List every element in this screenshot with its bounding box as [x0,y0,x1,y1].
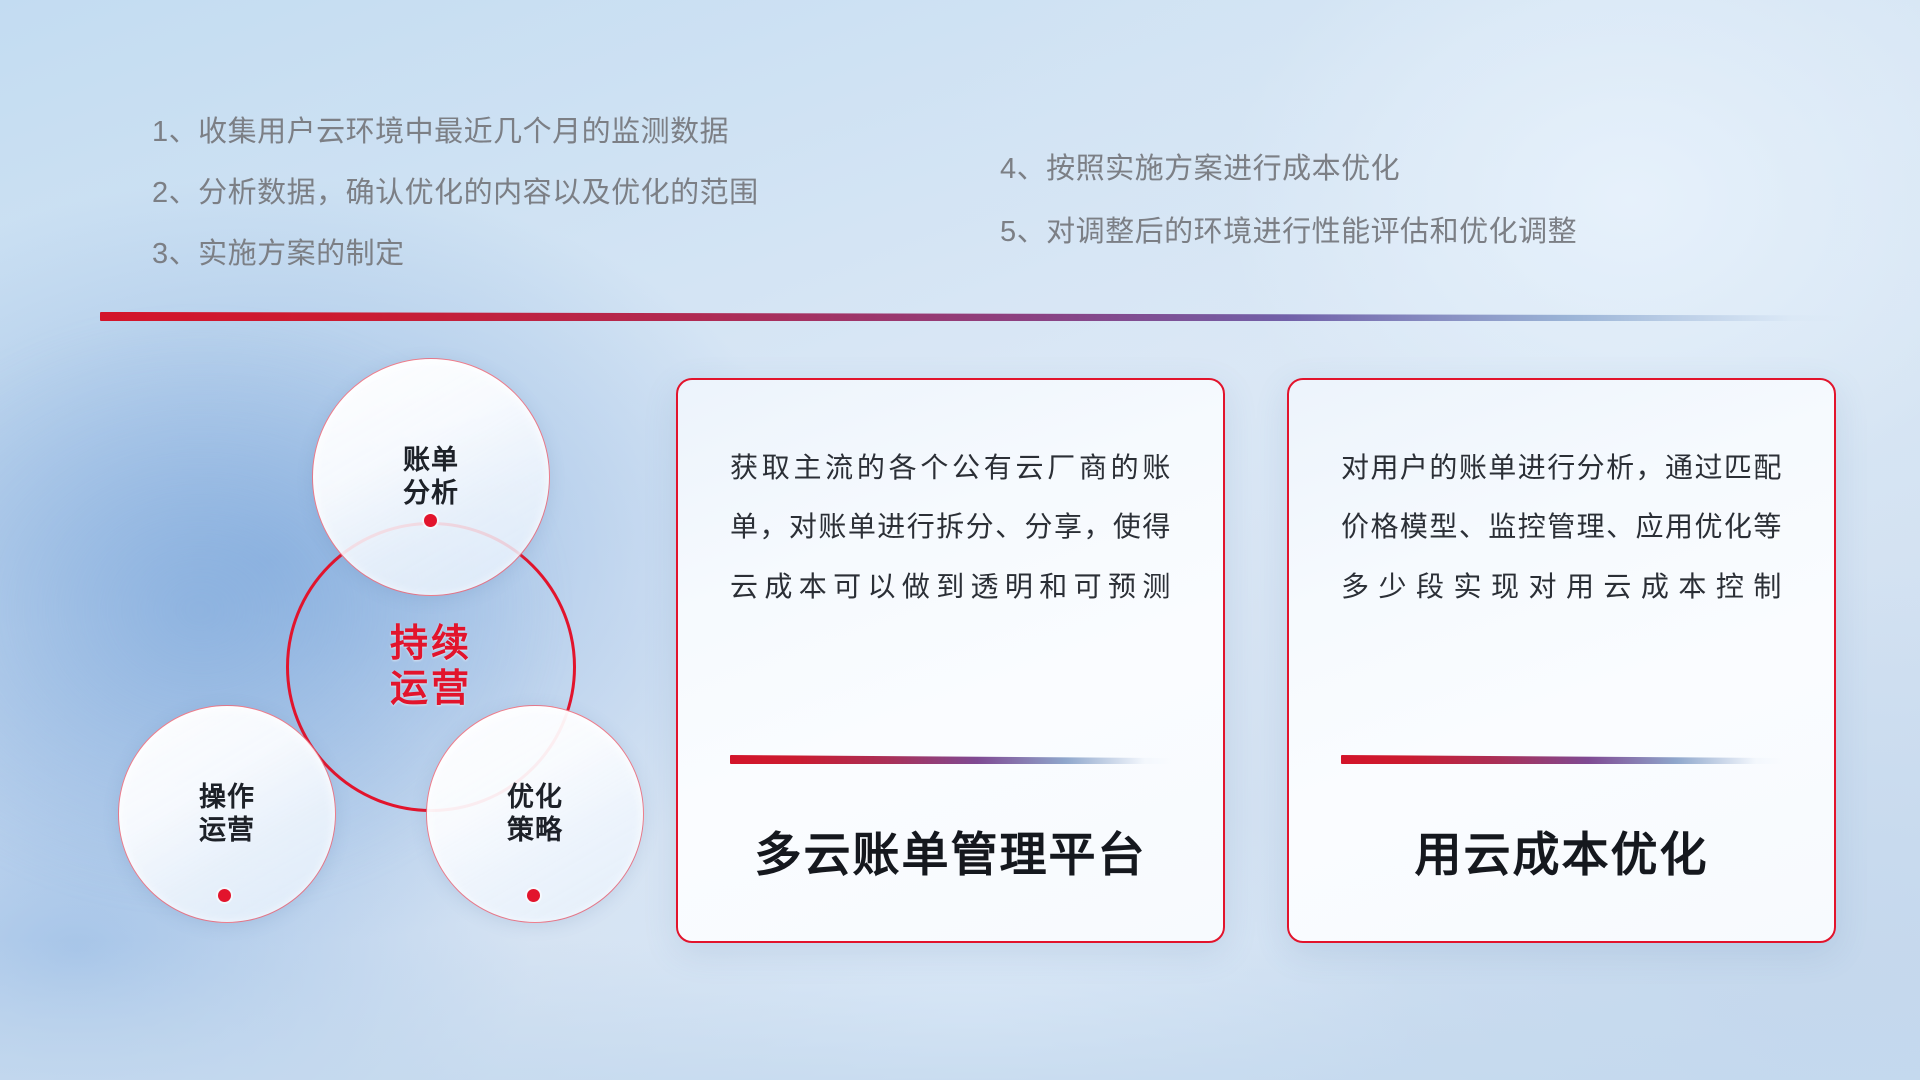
step-item-2: 2、分析数据，确认优化的内容以及优化的范围 [152,179,759,208]
background-bottom-strip [0,940,1920,1080]
process-steps-section: 1、收集用户云环境中最近几个月的监测数据 2、分析数据，确认优化的内容以及优化的… [0,0,1920,300]
venn-node-dot-top [424,514,437,527]
card-divider-bar [730,755,1171,764]
venn-node-dot-right [527,889,540,902]
section-divider [100,312,1844,321]
venn-node-dot-left [218,889,231,902]
step-item-4: 4、按照实施方案进行成本优化 [1000,155,1577,184]
card-divider-bar [1341,755,1782,764]
venn-bubble-label-line1: 优化 [507,781,563,814]
venn-diagram: 账单 分析 操作 运营 优化 策略 持续 运营 [100,352,620,952]
venn-bubble-label-line2: 分析 [403,477,459,510]
feature-cards-section: 获取主流的各个公有云厂商的账单，对账单进行拆分、分享，使得云成本可以做到透明和可… [676,378,1836,943]
card-multi-cloud-billing-platform[interactable]: 获取主流的各个公有云厂商的账单，对账单进行拆分、分享，使得云成本可以做到透明和可… [676,378,1225,943]
step-item-1: 1、收集用户云环境中最近几个月的监测数据 [152,118,759,147]
venn-bubble-bill-analysis[interactable]: 账单 分析 [312,358,550,596]
steps-right-column: 4、按照实施方案进行成本优化 5、对调整后的环境进行性能评估和优化调整 [1000,155,1577,281]
card-body-text: 获取主流的各个公有云厂商的账单，对账单进行拆分、分享，使得云成本可以做到透明和可… [730,438,1171,616]
step-item-3: 3、实施方案的制定 [152,240,759,269]
venn-bubble-label-line2: 策略 [507,814,563,847]
card-title: 多云账单管理平台 [730,764,1171,941]
card-body-text: 对用户的账单进行分析，通过匹配价格模型、监控管理、应用优化等多少段实现对用云成本… [1341,438,1782,616]
card-cloud-cost-optimization[interactable]: 对用户的账单进行分析，通过匹配价格模型、监控管理、应用优化等多少段实现对用云成本… [1287,378,1836,943]
card-title: 用云成本优化 [1341,764,1782,941]
step-item-5: 5、对调整后的环境进行性能评估和优化调整 [1000,218,1577,247]
divider-gradient-bar [100,312,1844,321]
steps-left-column: 1、收集用户云环境中最近几个月的监测数据 2、分析数据，确认优化的内容以及优化的… [152,118,759,301]
venn-bubble-label-line1: 账单 [403,444,459,477]
venn-bubble-label-line1: 操作 [199,781,255,814]
venn-bubble-label-line2: 运营 [199,814,255,847]
